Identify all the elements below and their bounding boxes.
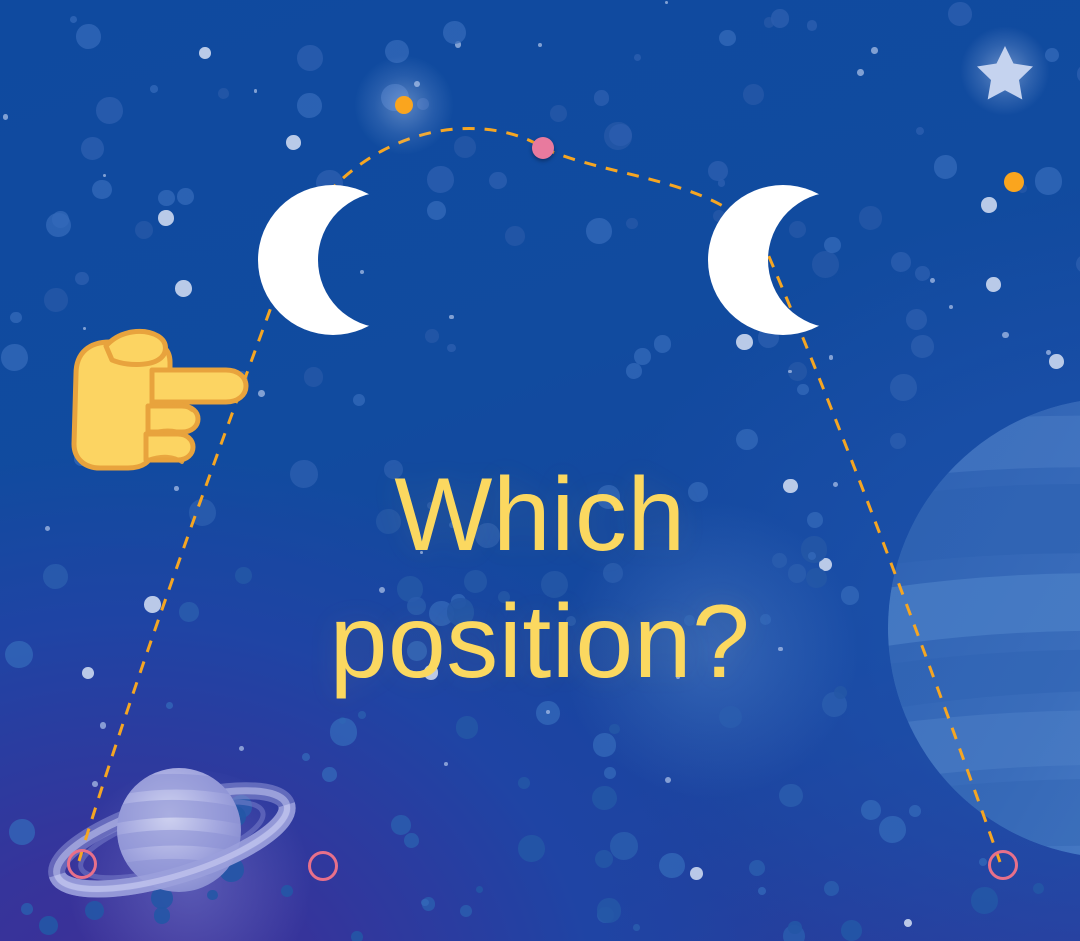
position-option-b-marker[interactable] [308,851,338,881]
position-option-c-marker[interactable] [988,850,1018,880]
pointing-right-hand-icon[interactable] [56,322,252,470]
space-scene: Which position? [0,0,1080,941]
moon-right[interactable] [708,185,858,335]
moon-left[interactable] [258,185,408,335]
orange-dot [1004,172,1024,192]
star-icon [960,26,1050,116]
apex-position-marker[interactable] [532,137,554,159]
position-option-a-marker[interactable] [67,849,97,879]
question-text: Which position? [0,452,1080,706]
glowing-orange-dot [354,55,454,155]
